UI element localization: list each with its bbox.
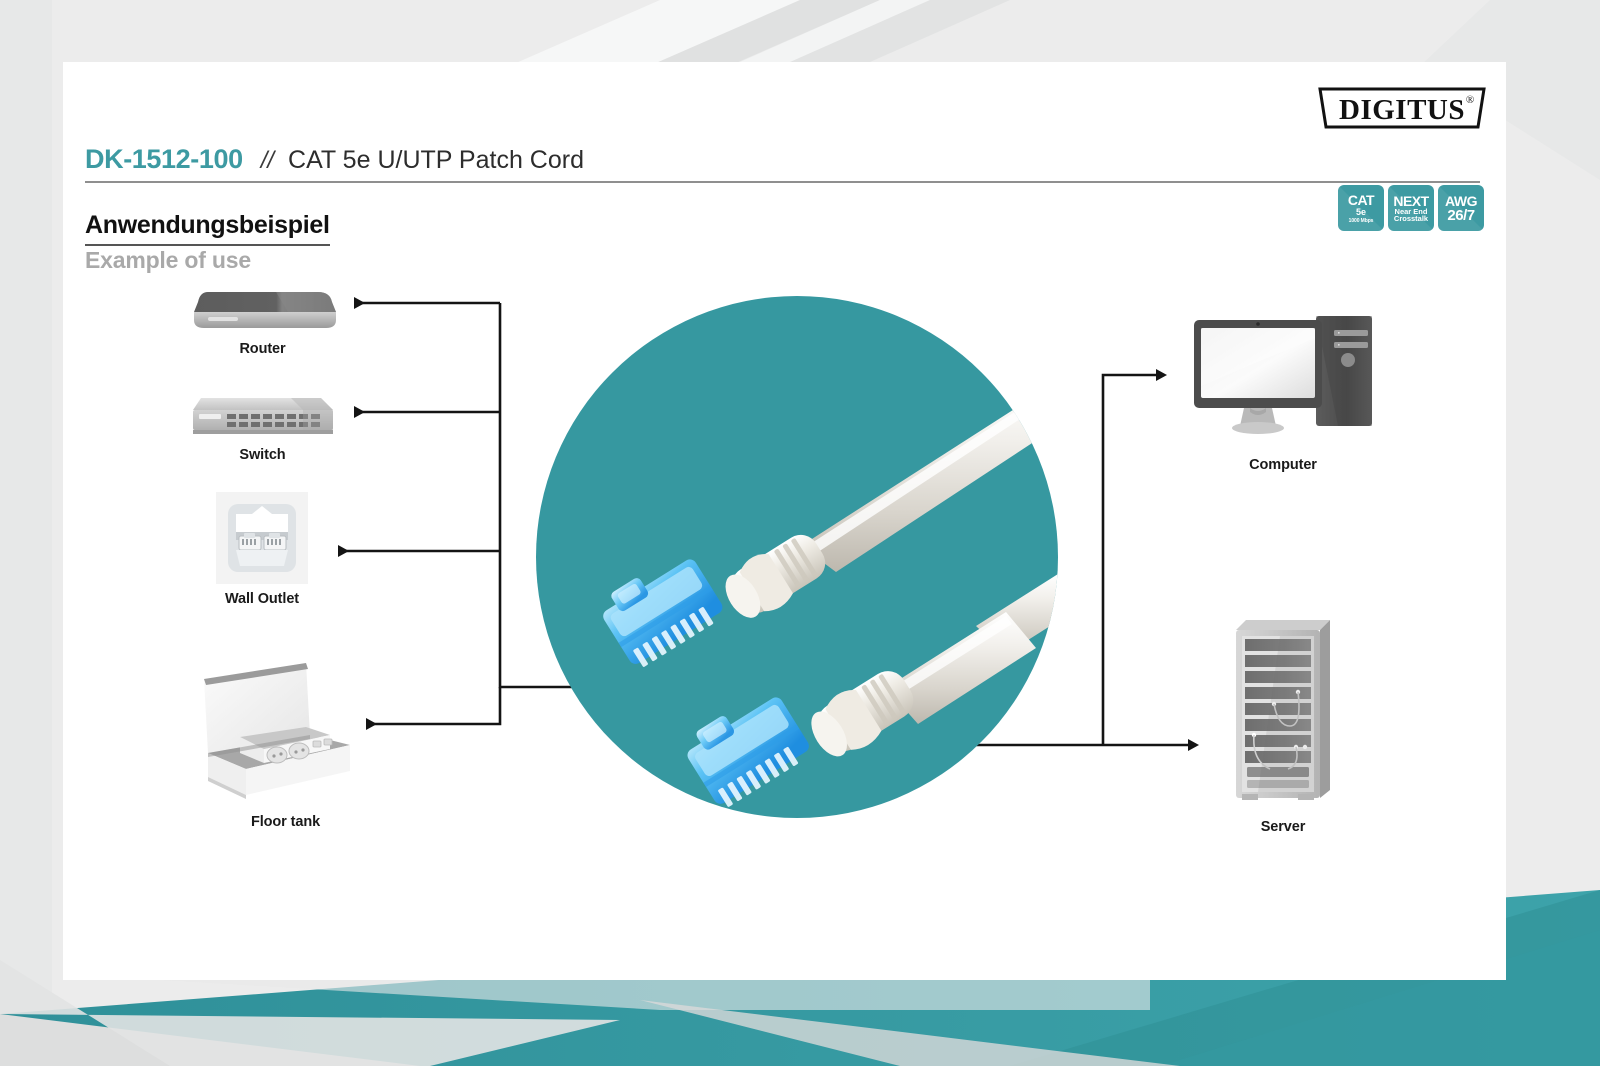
- cable-lower: [679, 574, 1058, 812]
- next-badge-title: NEXT: [1393, 194, 1428, 208]
- node-computer-label: Computer: [1249, 457, 1317, 473]
- wall-outlet-icon: [216, 492, 308, 584]
- wire-to-computer: [1103, 375, 1156, 745]
- switch-icon: [187, 392, 339, 440]
- floor-tank-icon: [198, 657, 373, 807]
- node-floor-tank: Floor tank: [183, 657, 388, 830]
- patch-cord-illustration: [536, 296, 1058, 818]
- node-wall-outlet-label: Wall Outlet: [225, 591, 299, 607]
- node-router: Router: [175, 286, 350, 357]
- next-badge-line2: Crosstalk: [1394, 215, 1428, 223]
- awg-badge-value: 26/7: [1447, 208, 1474, 223]
- awg-badge-title: AWG: [1445, 194, 1477, 208]
- computer-icon: [1188, 310, 1378, 450]
- node-floor-tank-label: Floor tank: [251, 814, 320, 830]
- server-icon: [1228, 612, 1338, 812]
- cat-badge-category: 5e: [1356, 208, 1366, 217]
- slide-canvas: DIGITUS ® DK-1512-100 // CAT 5e U/UTP Pa…: [0, 0, 1600, 1066]
- node-server-label: Server: [1261, 819, 1306, 835]
- product-photo-circle: [536, 296, 1058, 818]
- content-panel: DIGITUS ® DK-1512-100 // CAT 5e U/UTP Pa…: [63, 62, 1506, 980]
- node-server: Server: [1213, 612, 1353, 835]
- cat-badge-title: CAT: [1348, 193, 1374, 207]
- node-wall-outlet: Wall Outlet: [203, 492, 321, 607]
- node-switch-label: Switch: [239, 447, 285, 463]
- node-router-label: Router: [239, 341, 285, 357]
- node-switch: Switch: [175, 392, 350, 463]
- router-icon: [188, 286, 338, 334]
- application-diagram: Router: [63, 62, 1506, 980]
- cat-badge-speed: 1000 Mbps: [1349, 219, 1374, 224]
- node-computer: Computer: [1183, 310, 1383, 473]
